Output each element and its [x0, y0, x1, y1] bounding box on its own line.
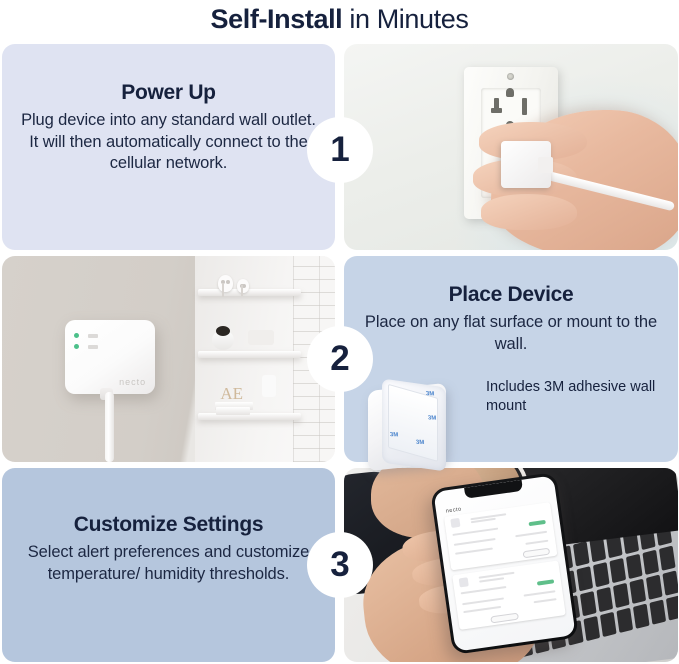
owl-stem	[241, 285, 243, 296]
step-1-photo	[344, 44, 678, 250]
device-adhesive-face: 3M 3M 3M 3M	[382, 379, 446, 472]
led-label	[88, 334, 98, 338]
step-2-body: Place on any flat surface or mount to th…	[360, 312, 662, 355]
card-row-label	[460, 586, 507, 594]
device-power-cable	[105, 392, 114, 462]
step-1-heading: Power Up	[18, 80, 319, 106]
step-1-body: Plug device into any standard wall outle…	[18, 110, 319, 175]
stacked-books	[216, 407, 250, 415]
shelf	[198, 351, 301, 358]
step-2-number-badge: 2	[309, 328, 371, 390]
3m-brand-mark: 3M	[428, 415, 437, 421]
card-row-value	[515, 531, 547, 537]
page-title-light: in Minutes	[342, 4, 468, 34]
necto-logo: necto	[119, 377, 146, 387]
necto-device: necto	[65, 320, 155, 394]
outlet-screw-top	[507, 73, 514, 80]
step-3-text-panel: Customize Settings Select alert preferen…	[2, 468, 335, 662]
step-3-heading: Customize Settings	[18, 512, 319, 538]
card-action-button[interactable]	[490, 612, 518, 623]
ae-letters: AE	[220, 384, 243, 404]
card-row-value	[525, 539, 548, 544]
card-row-value	[533, 598, 556, 603]
3m-adhesive-device-photo: 3M 3M 3M 3M	[368, 381, 462, 478]
wall-outlet-photo	[344, 44, 678, 250]
step-2-note: Includes 3M adhesive wall mount	[486, 378, 664, 416]
status-led-green	[74, 333, 79, 338]
status-indicator	[537, 579, 554, 585]
app-logo: necto	[445, 506, 462, 514]
app-device-card	[452, 560, 565, 629]
page-title: Self-Install in Minutes	[0, 0, 679, 39]
step-1-number-badge: 1	[309, 119, 371, 181]
led-label	[88, 345, 98, 349]
status-indicator	[529, 520, 546, 526]
smartphone: necto	[430, 472, 579, 655]
shelf	[198, 289, 301, 296]
step-3-number-badge: 3	[309, 534, 371, 596]
necto-device-photo: AE necto	[2, 256, 335, 462]
decorative-object	[248, 330, 274, 345]
owl-figurine	[218, 275, 233, 292]
step-3-body: Select alert preferences and customize t…	[18, 542, 319, 585]
step-3-photo: necto	[344, 468, 678, 662]
card-action-button[interactable]	[522, 547, 550, 558]
step-2-text-block: Place Device Place on any flat surface o…	[344, 282, 678, 355]
3m-brand-mark: 3M	[390, 432, 399, 438]
step-1-text-block: Power Up Plug device into any standard w…	[2, 80, 335, 175]
decorative-bowl	[212, 330, 234, 350]
card-row-label	[454, 547, 492, 554]
device-thumbnail	[458, 576, 468, 586]
outlet-ground-pin-bottom	[506, 88, 514, 97]
3m-brand-mark: 3M	[416, 440, 425, 446]
3m-brand-mark: 3M	[426, 391, 435, 397]
step-2-heading: Place Device	[360, 282, 662, 308]
card-row-label	[462, 597, 504, 605]
device-thumbnail	[450, 518, 460, 528]
card-row-value	[524, 589, 556, 595]
phone-screen: necto	[433, 475, 575, 651]
phone-app-photo: necto	[344, 468, 678, 662]
step-2-photo: AE necto	[2, 256, 335, 462]
card-row-label	[452, 527, 499, 535]
step-3-text-block: Customize Settings Select alert preferen…	[2, 512, 335, 585]
page-title-bold: Self-Install	[211, 4, 343, 34]
card-row-label	[453, 538, 495, 546]
usb-power-adapter	[501, 141, 551, 188]
finger	[481, 194, 577, 230]
outlet-slot-left-top	[494, 98, 499, 112]
self-install-infographic: Self-Install in Minutes Power Up Plug de…	[0, 0, 679, 664]
card-row-label	[463, 606, 501, 613]
outlet-slot-right-top	[522, 98, 527, 115]
owl-stem	[222, 283, 224, 297]
decorative-object	[262, 375, 276, 397]
status-led-green	[74, 344, 79, 349]
step-1-text-panel: Power Up Plug device into any standard w…	[2, 44, 335, 250]
